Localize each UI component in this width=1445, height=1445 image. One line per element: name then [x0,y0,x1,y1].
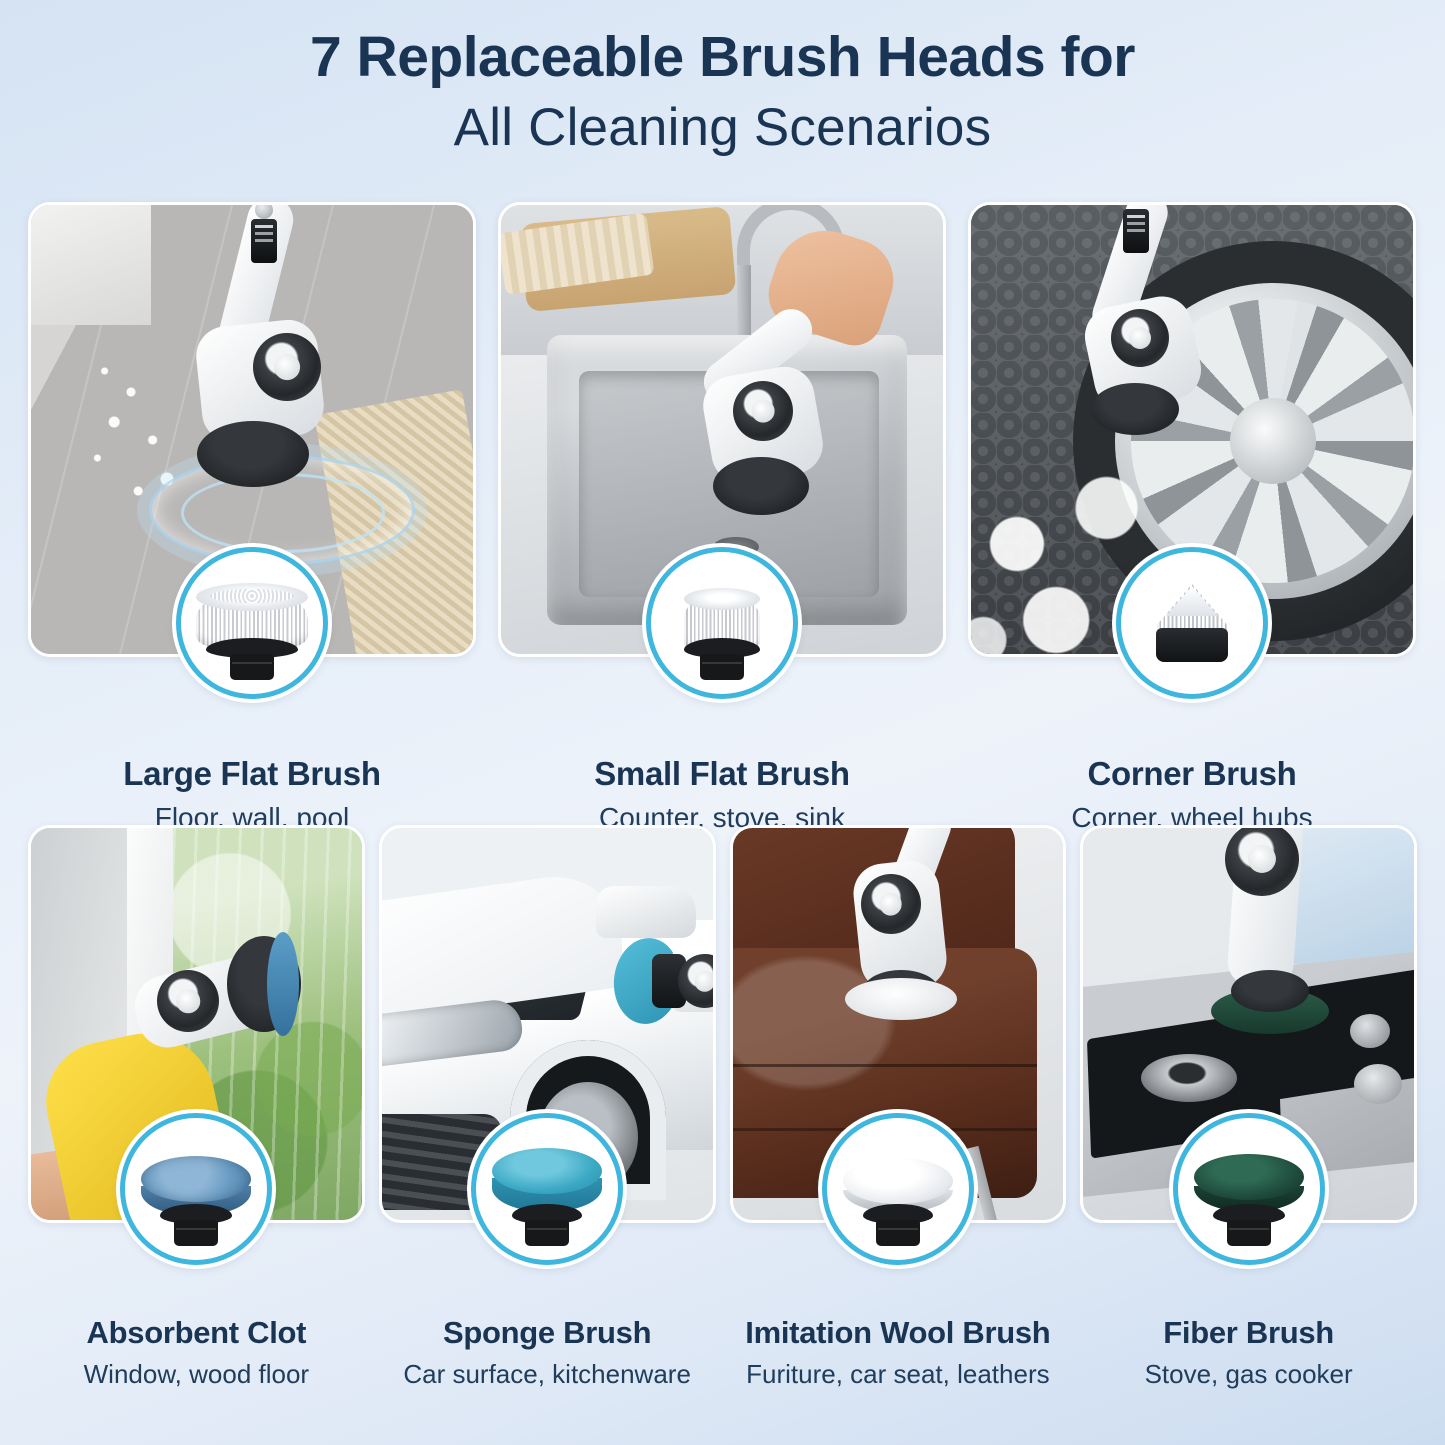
brush-hub [230,654,274,680]
brush-caption: Fiber Brush Stove, gas cooker [1080,1315,1417,1390]
brush-card-corner-brush[interactable]: Corner Brush Corner, wheel hubs [968,202,1416,835]
brush-hub [1227,1220,1271,1246]
brush-head-badge [646,547,798,699]
corner-brush-head-icon [1133,576,1251,680]
brush-card-absorbent-clot[interactable]: Absorbent Clot Window, wood floor [28,825,365,1390]
brush-uses: Furiture, car seat, leathers [730,1359,1067,1390]
brush-hub [525,1220,569,1246]
sponge-top [492,1148,602,1194]
title-line-1: 7 Replaceable Brush Heads for [0,26,1445,90]
brush-head-badge [1116,547,1268,699]
scrubber-pivot-ring [861,874,921,934]
brush-caption: Imitation Wool Brush Furiture, car seat,… [730,1315,1067,1390]
scrubber-pivot-ring [157,970,219,1032]
scrubber-pivot-ring [253,333,321,401]
fiber-brush-head-icon [1190,1142,1308,1246]
brush-name: Small Flat Brush [498,755,946,793]
brush-caption: Corner Brush Corner, wheel hubs [968,755,1416,835]
scrubber-mounted-disc [713,457,809,515]
brush-caption: Sponge Brush Car surface, kitchenware [379,1315,716,1390]
brush-hub [876,1220,920,1246]
pad-top [141,1156,251,1202]
absorbent-pad-edge [267,932,299,1036]
brush-card-small-flat-brush[interactable]: Small Flat Brush Counter, stove, sink [498,202,946,835]
brush-hub [1156,628,1228,662]
brush-row-bottom: Absorbent Clot Window, wood floor [28,825,1417,1390]
brush-card-imitation-wool-brush[interactable]: Imitation Wool Brush Furiture, car seat,… [730,825,1067,1390]
brush-uses: Stove, gas cooker [1080,1359,1417,1390]
spin-swirl-inner [181,473,385,553]
brush-head-badge [120,1113,272,1265]
brush-head-badge [1173,1113,1325,1265]
fiber-top [1194,1154,1304,1200]
seat-seam [730,1064,1037,1067]
brush-card-large-flat-brush[interactable]: Large Flat Brush Floor, wall, pool [28,202,476,835]
stove-knob-front [1354,1064,1402,1104]
brush-head-badge [822,1113,974,1265]
scrubber-display [251,219,277,263]
gas-burner [1141,1054,1237,1102]
wall-corner [31,205,151,325]
brush-name: Absorbent Clot [28,1315,365,1351]
brush-name: Large Flat Brush [28,755,476,793]
brush-name: Imitation Wool Brush [730,1315,1067,1351]
brush-caption: Absorbent Clot Window, wood floor [28,1315,365,1390]
scrubber-mounted-disc [1231,970,1309,1012]
absorbent-clot-head-icon [137,1142,255,1246]
brush-head-badge [471,1113,623,1265]
wool-pad-on-seat [845,978,957,1020]
large-flat-brush-head-icon [193,576,311,680]
small-flat-brush-head-icon [663,576,781,680]
wool-top [843,1158,953,1204]
brush-name: Corner Brush [968,755,1416,793]
stove-knob-rear [1350,1014,1390,1048]
brush-row-top: Large Flat Brush Floor, wall, pool [28,202,1417,835]
sponge-brush-head-icon [488,1142,606,1246]
brush-hub [700,654,744,680]
imitation-wool-brush-head-icon [839,1142,957,1246]
side-mirror [596,886,696,938]
brush-caption: Small Flat Brush Counter, stove, sink [498,755,946,835]
brush-caption: Large Flat Brush Floor, wall, pool [28,755,476,835]
brush-head-badge [176,547,328,699]
brush-uses: Window, wood floor [28,1359,365,1390]
scrubber-display [1123,209,1149,253]
scrubber-mounted-disc [1091,383,1179,435]
brush-card-fiber-brush[interactable]: Fiber Brush Stove, gas cooker [1080,825,1417,1390]
brush-card-sponge-brush[interactable]: Sponge Brush Car surface, kitchenware [379,825,716,1390]
brush-hub [174,1220,218,1246]
title-line-2: All Cleaning Scenarios [0,96,1445,160]
page-title: 7 Replaceable Brush Heads for All Cleani… [0,0,1445,159]
scrubber-pivot-ring [1111,309,1169,367]
brush-uses: Car surface, kitchenware [379,1359,716,1390]
brush-name: Sponge Brush [379,1315,716,1351]
scrubber-pivot-ring [733,381,793,441]
brush-name: Fiber Brush [1080,1315,1417,1351]
scrubber-mounted-disc [197,421,309,487]
faucet-stem [737,265,751,335]
